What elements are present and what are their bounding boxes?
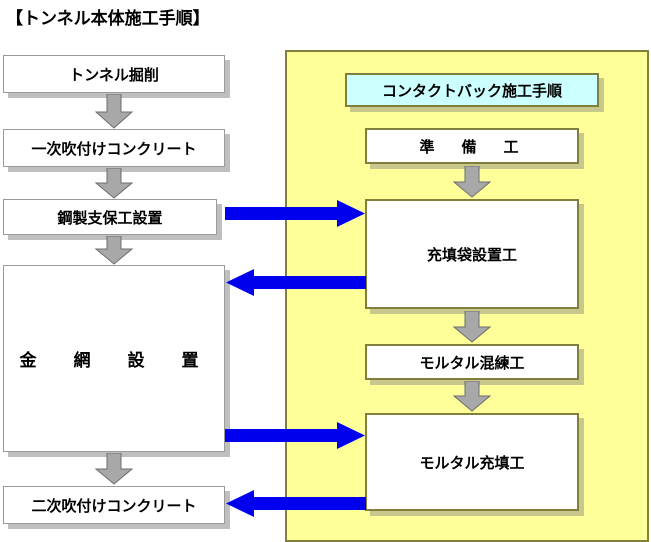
down-arrow-icon-mortar-mixing-to-filling	[453, 381, 491, 412]
process-box-steel-support-installation[interactable]: 鋼製支保工設置	[3, 199, 217, 235]
right-arrow-icon-mesh-to-mortar-filling	[225, 422, 366, 450]
process-box-tunnel-excavation[interactable]: トンネル掘削	[3, 55, 225, 93]
down-arrow-icon-bag-to-mortar-mixing	[453, 311, 491, 343]
down-arrow-icon-support-to-mesh	[95, 236, 133, 265]
process-box-filling-bag-installation[interactable]: 充填袋設置工	[365, 199, 579, 309]
process-box-wire-mesh-installation[interactable]: 金 網 設 置	[3, 265, 225, 452]
down-arrow-icon-preparation-to-bag	[453, 166, 491, 198]
process-box-mortar-filling[interactable]: モルタル充填工	[365, 413, 579, 511]
down-arrow-icon-mesh-to-secondary-shotcrete	[95, 453, 133, 485]
right-arrow-icon-support-to-bag	[225, 200, 366, 228]
process-box-preparation-work[interactable]: 準 備 工	[365, 128, 579, 164]
process-box-secondary-shotcrete[interactable]: 二次吹付けコンクリート	[3, 486, 225, 524]
process-box-primary-shotcrete[interactable]: 一次吹付けコンクリート	[3, 129, 225, 167]
page-title: 【トンネル本体施工手順】	[6, 4, 210, 29]
panel-header-contact-back: コンタクトバック施工手順	[345, 73, 599, 107]
process-box-mortar-mixing[interactable]: モルタル混練工	[365, 344, 579, 380]
down-arrow-icon-shotcrete-to-support	[95, 168, 133, 199]
left-arrow-icon-bag-to-mesh	[226, 269, 366, 297]
left-arrow-icon-mortar-filling-to-secondary-shotcrete	[226, 490, 366, 518]
flowchart-canvas: 【トンネル本体施工手順】 トンネル掘削 一次吹付けコンクリート 鋼製支保工設置 …	[0, 0, 651, 542]
down-arrow-icon-excavation-to-shotcrete	[95, 94, 133, 129]
